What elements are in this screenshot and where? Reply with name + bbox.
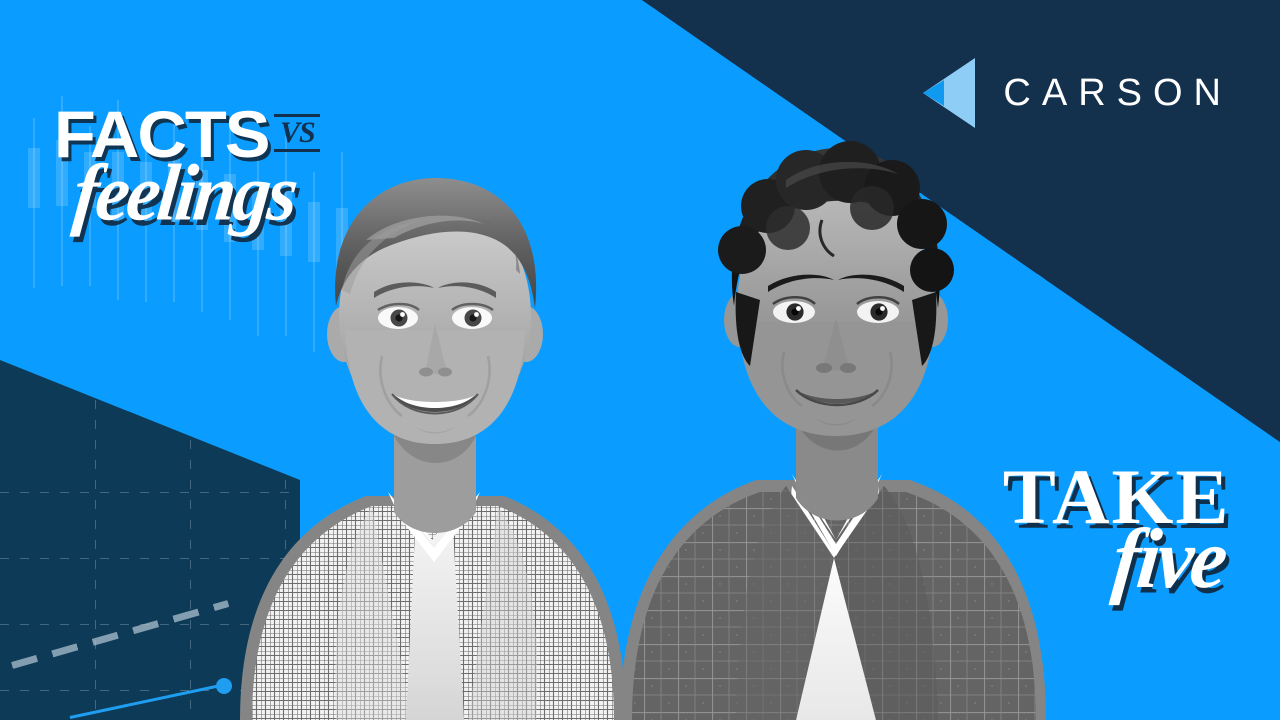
show-title-lockup: FACTS VS feelings: [58, 104, 408, 227]
carson-chevron-logo-icon: [917, 58, 975, 128]
host-photo-right: [610, 100, 1050, 720]
connector-line: [70, 683, 227, 719]
segment-title-lockup: TAKE five: [1005, 462, 1228, 596]
versus-badge: VS: [274, 114, 320, 152]
trend-line-lower-left: [11, 600, 229, 669]
carson-wordmark: CARSON: [1001, 72, 1232, 115]
show-title-feelings: feelings: [70, 157, 412, 229]
podcast-cover-artwork: FACTS VS feelings TAKE five CARSON: [0, 0, 1280, 720]
carson-brand-lockup: CARSON: [917, 58, 1232, 128]
segment-title-five: five: [1001, 521, 1228, 598]
versus-label: VS: [274, 117, 320, 149]
